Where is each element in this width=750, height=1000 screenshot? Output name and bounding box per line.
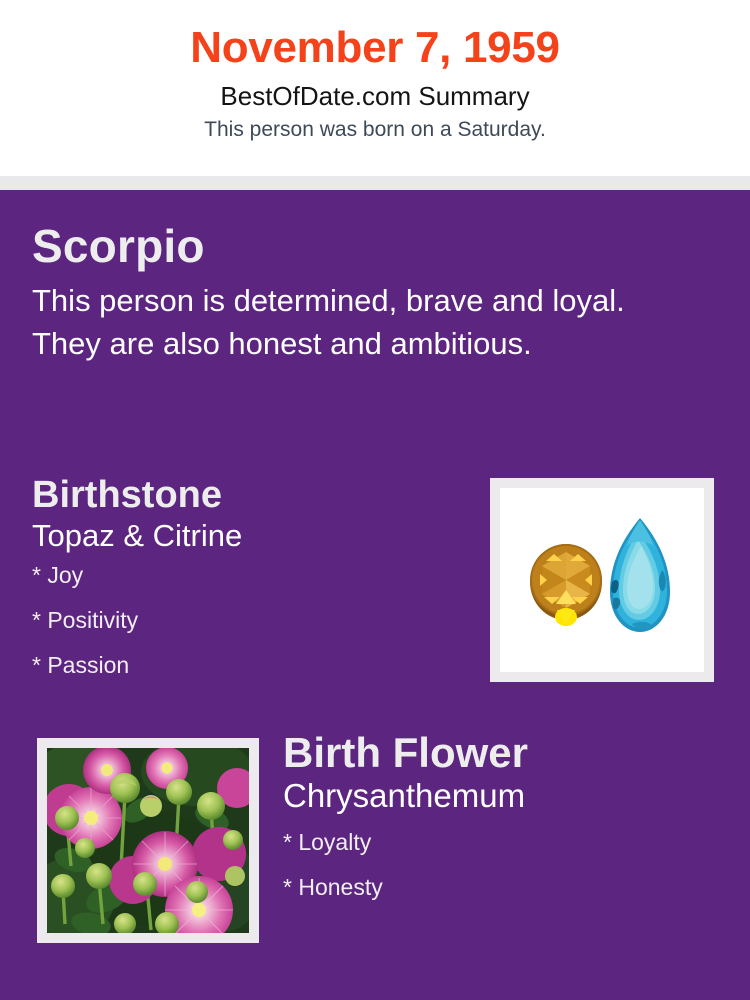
- gemstones-illustration: [500, 488, 704, 672]
- birth-flower-image: [47, 748, 249, 933]
- born-day-note: This person was born on a Saturday.: [0, 117, 750, 143]
- list-item: * Positivity: [32, 609, 462, 632]
- birth-flower-name: Chrysanthemum: [283, 777, 733, 815]
- header: November 7, 1959 BestOfDate.com Summary …: [0, 0, 750, 176]
- birthstone-traits-list: * Joy * Positivity * Passion: [32, 564, 462, 677]
- list-item: * Honesty: [283, 876, 733, 899]
- birthstone-image-frame: [490, 478, 714, 682]
- birthstone-name: Topaz & Citrine: [32, 518, 462, 554]
- birthstone-text: Birthstone Topaz & Citrine * Joy * Posit…: [32, 475, 462, 699]
- list-item: * Joy: [32, 564, 462, 587]
- zodiac-sign-name: Scorpio: [32, 222, 702, 270]
- summary-card: November 7, 1959 BestOfDate.com Summary …: [0, 0, 750, 1000]
- birth-flower-title: Birth Flower: [283, 730, 733, 775]
- birth-flower-traits-list: * Loyalty * Honesty: [283, 831, 733, 899]
- birth-flower-text: Birth Flower Chrysanthemum * Loyalty * H…: [283, 730, 733, 921]
- birthstone-image: [500, 488, 704, 672]
- zodiac-sign-block: Scorpio This person is determined, brave…: [32, 222, 702, 366]
- details-panel: Scorpio This person is determined, brave…: [0, 190, 750, 1000]
- list-item: * Passion: [32, 654, 462, 677]
- birthstone-title: Birthstone: [32, 475, 462, 516]
- birth-flower-section: Birth Flower Chrysanthemum * Loyalty * H…: [0, 730, 750, 960]
- zodiac-sign-description: This person is determined, brave and loy…: [32, 280, 692, 366]
- chrysanthemum-illustration: [47, 748, 249, 933]
- birthstone-section: Birthstone Topaz & Citrine * Joy * Posit…: [0, 475, 750, 695]
- list-item: * Loyalty: [283, 831, 733, 854]
- page-title-date: November 7, 1959: [0, 22, 750, 74]
- site-summary-label: BestOfDate.com Summary: [0, 80, 750, 113]
- birth-flower-image-frame: [37, 738, 259, 943]
- header-divider: [0, 176, 750, 190]
